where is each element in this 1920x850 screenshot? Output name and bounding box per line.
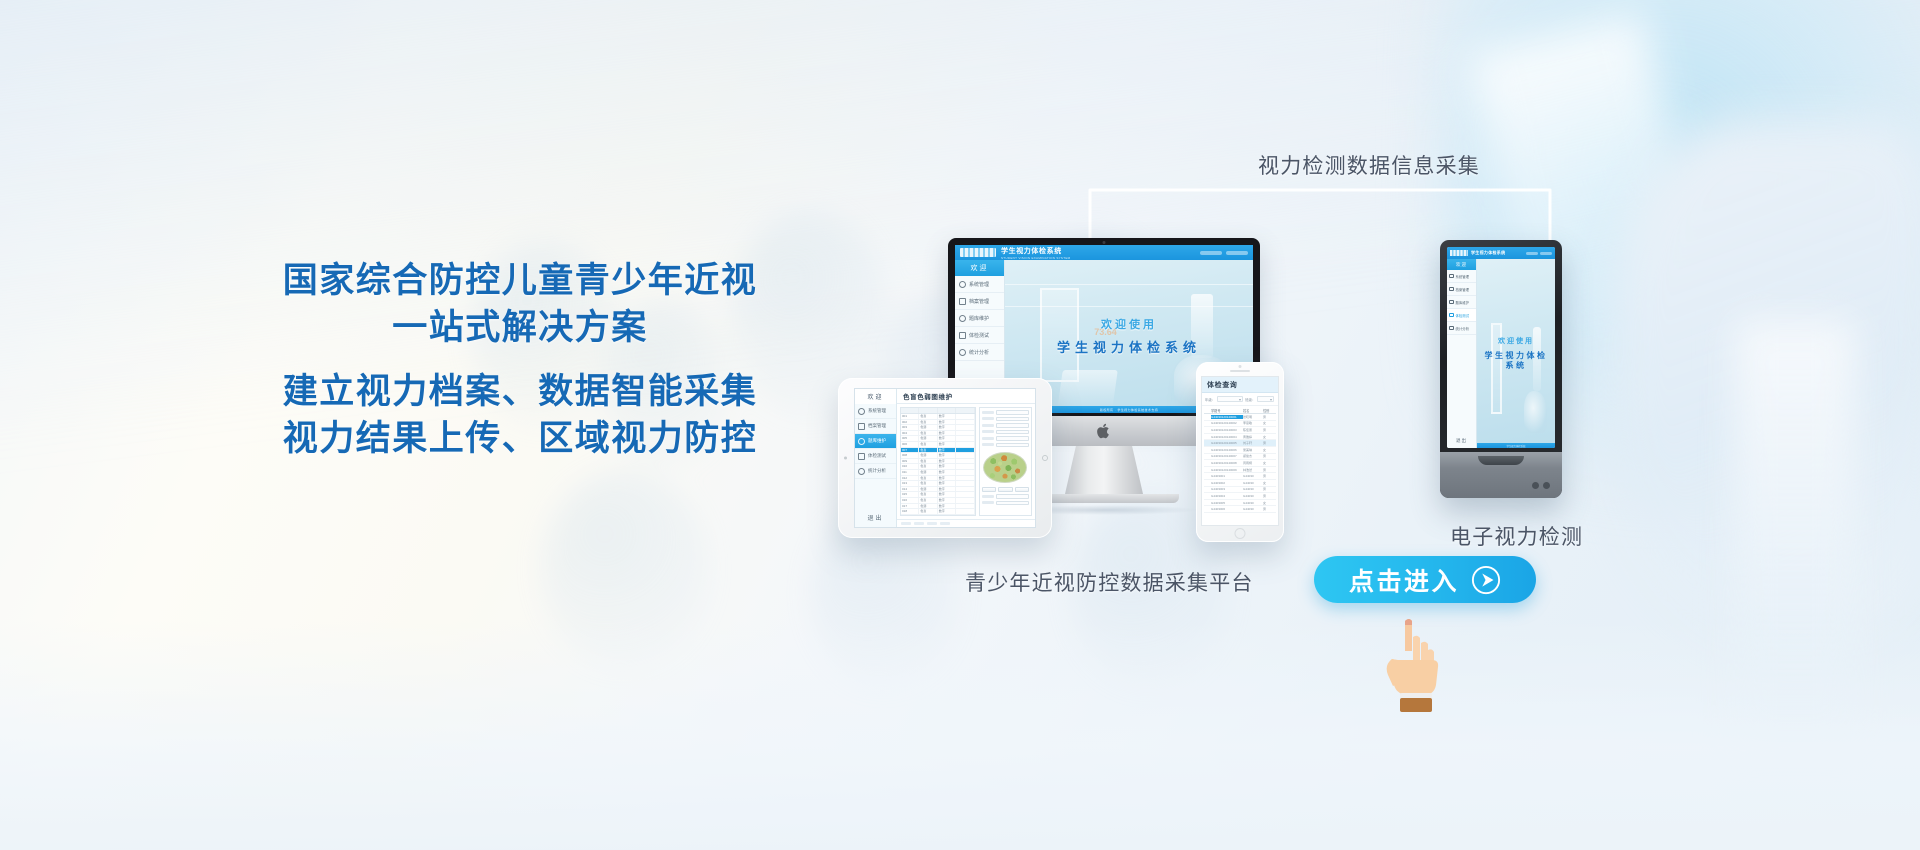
app-header-actions [1200,251,1248,255]
list-cell: 吴美琳 [1243,448,1263,452]
table-cell [956,425,974,430]
ishihara-color-plate-icon [983,452,1027,483]
phone-filter-bar: 年级： 班级： [1202,393,1278,406]
sensor-icon [1543,482,1550,489]
headline-line-2: 一站式解决方案 [190,305,850,352]
kiosk-screen: 学生视力体检系统 欢迎 系统管理 [1447,247,1555,448]
list-item[interactable]: G44030120140006吴美琳女 [1204,447,1276,454]
monitor-stand [1065,446,1143,494]
user-icon [858,408,865,415]
kiosk-main-content: 欢迎使用 学生视力体检系统 学生视力体检系统 [1477,259,1555,448]
table-cell: 003 [901,425,919,430]
promo-banner: 国家综合防控儿童青少年近视 一站式解决方案 建立视力档案、数据智能采集 视力结果… [0,0,1920,850]
table-cell [956,476,974,481]
list-item[interactable]: G4403001G44030男 [1204,473,1276,480]
list-cell: 郑俊杰 [1243,454,1263,458]
phone-table-body: G44030120140001张晓明男G44030120140002李思敏女G4… [1204,414,1276,513]
headline-line-4: 视力结果上传、区域视力防控 [190,416,850,463]
table-cell: 数字 [938,420,956,425]
field-label [982,437,994,440]
table-cell [956,492,974,497]
field-input[interactable] [996,417,1029,422]
list-cell: 男 [1263,474,1276,478]
tablet-sidebar-header: 欢迎 [855,389,896,404]
sidebar-item-question-bank[interactable]: 题库维护 [955,310,1004,327]
table-cell: 色盲 [919,420,937,425]
table-cell: 色盲 [919,476,937,481]
field-label [982,424,994,427]
headline-line-1: 国家综合防控儿童青少年近视 [190,258,850,305]
kiosk-sensor-icons [1532,482,1550,489]
app-logo-icon [960,248,996,257]
table-cell: 数字 [938,464,956,469]
table-cell: 013 [901,481,919,486]
list-cell: G4403006 [1211,507,1243,511]
phone-table[interactable]: 学籍号 姓名 性别 G44030120140001张晓明男G4403012014… [1202,406,1278,525]
table-cell: 色弱 [919,470,937,475]
grade-filter-label: 年级： [1205,397,1215,402]
save-button[interactable] [982,487,996,492]
detail-field[interactable] [982,410,1029,415]
kiosk-body: 欢迎 系统管理 档案管理 题库维护 [1447,259,1555,448]
table-cell [956,470,974,475]
kiosk-base [1440,452,1562,498]
welcome-line-1: 欢迎使用 [1101,316,1157,332]
list-item[interactable]: G4403003G44030男 [1204,487,1276,494]
list-cell: 女 [1263,448,1276,452]
list-cell: G44030120140004 [1211,435,1243,439]
tablet-screen: 欢迎 系统管理 档案管理 题库维护 [854,388,1036,528]
sidebar-item-exam[interactable]: 体检测试 [955,327,1004,344]
field-input[interactable] [996,436,1029,441]
phone-page-title: 体检查询 [1202,377,1278,393]
table-cell: 数字 [938,504,956,509]
list-item[interactable]: G44030120140003陈佳豪男 [1204,427,1276,434]
table-cell: 006 [901,442,919,447]
table-cell [956,436,974,441]
field-input[interactable] [996,501,1029,506]
tablet-sidebar-label: 档案管理 [868,423,886,429]
phone-mockup: 体检查询 年级： 班级： 学籍号 姓名 性别 G44030120140001张晓… [1196,362,1284,542]
kiosk-welcome-panel: 欢迎使用 学生视力体检系统 [1477,259,1555,448]
field-label [982,430,994,433]
detail-field[interactable] [982,436,1029,441]
footer-button[interactable] [927,522,937,525]
list-cell: G44030 [1243,501,1263,505]
chart-icon [1449,326,1454,331]
list-cell: G44030 [1243,481,1263,485]
detail-field[interactable] [982,423,1029,428]
kiosk-sidebar-header: 欢迎 [1447,259,1476,270]
table-cell: 018 [901,509,919,514]
kiosk-header-actions [1526,252,1552,255]
list-cell: G44030120140006 [1211,448,1243,452]
kiosk-caption: 电子视力检测 [1450,521,1583,551]
tablet-detail-pane [979,407,1032,516]
table-cell: 色盲 [919,464,937,469]
table-cell: 009 [901,459,919,464]
user-icon [959,281,966,288]
list-cell: G44030120140005 [1211,441,1243,445]
table-cell: 数字 [938,414,956,419]
table-col-id [901,408,919,413]
sidebar-label: 体检测试 [969,332,989,339]
table-cell [956,504,974,509]
sidebar-item-statistics[interactable]: 统计分析 [955,344,1004,361]
list-cell: 女 [1263,461,1276,465]
field-label [982,501,994,504]
tablet-data-table[interactable]: 001色盲数字002色盲数字003色弱数字004色盲数字005色弱数字006色盲… [900,407,976,516]
detail-field[interactable] [982,417,1029,422]
flow-label: 视力检测数据信息采集 [1258,150,1480,180]
kiosk-logo-icon [1450,250,1468,256]
kiosk-header-bar: 学生视力体检系统 [1447,247,1555,259]
kiosk-welcome-line-1: 欢迎使用 [1498,336,1534,346]
sidebar-item-archive[interactable]: 档案管理 [955,293,1004,310]
table-cell: 数字 [938,436,956,441]
table-cell: 色盲 [919,448,937,453]
list-cell: G4403002 [1211,481,1243,485]
kiosk-sidebar-label: 体检测试 [1456,313,1470,318]
class-filter-label: 班级： [1245,397,1255,402]
list-cell: 男 [1263,494,1276,498]
list-cell: G44030 [1243,474,1263,478]
table-cell: 数字 [938,509,956,514]
gear-icon [858,438,865,445]
background-bottom-haze [0,620,1920,850]
table-cell: 数字 [938,487,956,492]
list-cell: 女 [1263,435,1276,439]
list-item[interactable]: G44030120140004黄雅婷女 [1204,434,1276,441]
table-cell: 008 [901,453,919,458]
list-item[interactable]: G44030120140005刘子轩男 [1204,440,1276,447]
kiosk-logout-chip[interactable] [1540,252,1552,255]
field-label [982,495,994,498]
table-cell [956,448,974,453]
field-label [982,443,994,446]
table-col-type [919,408,937,413]
phone-home-button[interactable] [1235,528,1246,539]
list-cell: 周雨桐 [1243,461,1263,465]
sidebar-item-system[interactable]: 系统管理 [955,276,1004,293]
app-title: 学生视力体检系统 [1001,246,1070,256]
welcome-line-2: 学生视力体检系统 [1051,339,1207,357]
table-cell: 数字 [938,431,956,436]
list-cell: G44030120140008 [1211,461,1243,465]
table-cell: 色盲 [919,481,937,486]
tablet-sidebar-label: 体检测试 [868,453,886,459]
table-cell: 数字 [938,459,956,464]
detail-field[interactable] [982,443,1029,448]
class-filter-select[interactable] [1257,396,1274,402]
table-cell: 数字 [938,448,956,453]
table-col-answer [938,408,956,413]
table-cell: 色弱 [919,487,937,492]
phone-speaker-icon [1230,370,1250,372]
list-cell: 林浩然 [1243,468,1263,472]
field-input[interactable] [996,410,1029,415]
tablet-home-button[interactable] [1042,455,1048,461]
table-cell: 数字 [938,481,956,486]
tablet-page-title: 色盲色弱图维护 [897,389,1035,404]
platform-caption: 青少年近视防控数据采集平台 [965,567,1254,597]
table-cell [956,464,974,469]
sidebar-label: 系统管理 [969,281,989,288]
tablet-sidebar-item-question-bank[interactable]: 题库维护 [855,434,896,449]
list-cell: G4403001 [1211,474,1243,478]
list-item[interactable]: G4403004G44030男 [1204,493,1276,500]
list-item[interactable]: G4403002G44030女 [1204,480,1276,487]
list-cell: G44030120140007 [1211,454,1243,458]
field-label [982,411,994,414]
table-cell [956,431,974,436]
kiosk-sidebar-item-statistics[interactable]: 统计分析 [1447,322,1476,335]
edit-button[interactable] [998,487,1012,492]
table-cell [956,487,974,492]
tablet-sidebar: 欢迎 系统管理 档案管理 题库维护 [855,389,897,527]
table-cell: 010 [901,464,919,469]
table-cell: 005 [901,436,919,441]
delete-button[interactable] [1015,487,1029,492]
folder-icon [1449,287,1454,292]
table-cell [956,481,974,486]
list-item[interactable]: G4403005G44030女 [1204,500,1276,507]
kiosk-sidebar-item-system[interactable]: 系统管理 [1447,270,1476,283]
kiosk-sidebar-label: 档案管理 [1456,287,1470,292]
app-subtitle: STUDENT VISION EXAMINATION SYSTEM [1001,256,1070,260]
list-cell: 黄雅婷 [1243,435,1263,439]
list-cell: G44030120140009 [1211,468,1243,472]
kiosk-sidebar-label: 系统管理 [1456,274,1470,279]
clipboard-icon [959,332,966,339]
phone-screen: 体检查询 年级： 班级： 学籍号 姓名 性别 G44030120140001张晓… [1201,376,1279,526]
table-cell: 色盲 [919,492,937,497]
table-cell: 色盲 [919,431,937,436]
enter-button[interactable]: 点击进入 [1314,556,1536,603]
table-cell: 012 [901,476,919,481]
table-cell: 002 [901,420,919,425]
table-cell: 色弱 [919,504,937,509]
clipboard-icon [858,453,865,460]
field-input[interactable] [996,423,1029,428]
field-input[interactable] [996,494,1029,499]
list-cell: 李思敏 [1243,421,1263,425]
kiosk-sidebar-item-archive[interactable]: 档案管理 [1447,283,1476,296]
pointing-hand-icon [1378,615,1448,715]
list-item[interactable]: G44030120140009林浩然男 [1204,467,1276,474]
table-cell: 数字 [938,453,956,458]
list-cell: 男 [1263,428,1276,432]
kiosk-user-chip[interactable] [1526,252,1538,255]
table-cell: 色弱 [919,453,937,458]
sidebar-label: 题库维护 [969,315,989,322]
table-cell: 015 [901,492,919,497]
list-cell: G44030 [1243,507,1263,511]
list-cell: G44030120140003 [1211,428,1243,432]
table-cell: 017 [901,504,919,509]
detail-field[interactable] [982,501,1029,506]
table-cell: 色盲 [919,498,937,503]
table-cell: 011 [901,470,919,475]
phone-camera-icon [1239,365,1242,368]
tablet-sidebar-label: 系统管理 [868,408,886,414]
table-cell: 004 [901,431,919,436]
table-cell: 色盲 [919,509,937,514]
table-cell: 色弱 [919,425,937,430]
list-cell: 女 [1263,501,1276,505]
sensor-icon [1532,482,1539,489]
table-cell [956,442,974,447]
app-header-bar: 学生视力体检系统 STUDENT VISION EXAMINATION SYST… [955,245,1253,260]
chart-icon [959,349,966,356]
field-label [982,417,994,420]
list-cell: G44030120140001 [1211,415,1243,419]
table-cell: 数字 [938,476,956,481]
list-cell: 女 [1263,421,1276,425]
detail-field[interactable] [982,430,1029,435]
table-col-note [956,408,974,413]
list-cell: 男 [1263,454,1276,458]
clipboard-icon [1449,313,1454,318]
table-cell: 016 [901,498,919,503]
table-cell: 色弱 [919,436,937,441]
tablet-main: 色盲色弱图维护 001色盲数字002色盲数字003色弱数字004色盲数字005色… [897,389,1035,527]
list-cell: 男 [1263,507,1276,511]
footer-button[interactable] [901,522,911,525]
tablet-sidebar-item-system[interactable]: 系统管理 [855,404,896,419]
sidebar-header: 欢迎 [955,260,1004,276]
table-cell: 色盲 [919,414,937,419]
sidebar-label: 档案管理 [969,298,989,305]
headline-line-3: 建立视力档案、数据智能采集 [190,369,850,416]
list-cell: G4403003 [1211,487,1243,491]
webcam-icon [1103,241,1106,244]
field-input[interactable] [996,430,1029,435]
circled-play-arrow-icon [1471,565,1501,595]
footer-button[interactable] [940,522,950,525]
list-cell: G44030120140002 [1211,421,1243,425]
sidebar-label: 统计分析 [969,349,989,356]
kiosk-sidebar-label: 题库维护 [1456,300,1470,305]
table-cell: 007 [901,448,919,453]
table-body: 001色盲数字002色盲数字003色弱数字004色盲数字005色弱数字006色盲… [901,414,975,515]
table-cell [956,420,974,425]
field-input[interactable] [996,443,1029,448]
kiosk-sidebar-item-question-bank[interactable]: 题库维护 [1447,296,1476,309]
table-cell [956,453,974,458]
kiosk-chin-slot [1478,456,1524,465]
list-cell: G4403005 [1211,501,1243,505]
list-cell: 男 [1263,487,1276,491]
detail-field[interactable] [982,494,1029,499]
list-cell: 男 [1263,468,1276,472]
table-cell: 数字 [938,498,956,503]
kiosk-sidebar-item-exam[interactable]: 体检测试 [1447,309,1476,322]
tablet-sidebar-label: 题库维护 [868,438,886,444]
gear-icon [1449,300,1454,305]
table-cell [956,459,974,464]
tablet-footer-toolbar [897,519,1035,527]
table-cell: 数字 [938,442,956,447]
tablet-sidebar-item-statistics[interactable]: 统计分析 [855,464,896,479]
list-cell: 女 [1263,481,1276,485]
kiosk-welcome-line-2: 学生视力体检系统 [1477,351,1555,372]
table-cell [956,414,974,419]
list-item[interactable]: G44030120140002李思敏女 [1204,421,1276,428]
enter-button-label: 点击进入 [1349,562,1459,598]
list-item[interactable]: G4403006G44030男 [1204,506,1276,513]
tablet-sidebar-item-archive[interactable]: 档案管理 [855,419,896,434]
table-cell: 001 [901,414,919,419]
list-cell: 男 [1263,415,1276,419]
folder-icon [858,423,865,430]
hero-headline: 国家综合防控儿童青少年近视 一站式解决方案 建立视力档案、数据智能采集 视力结果… [190,258,850,462]
kiosk-app: 学生视力体检系统 欢迎 系统管理 [1447,247,1555,448]
grade-filter-select[interactable] [1217,396,1243,402]
user-icon [1449,274,1454,279]
table-cell: 014 [901,487,919,492]
phone-col-check [1204,408,1211,413]
kiosk-sidebar-exit-button[interactable]: 退出 [1447,434,1476,448]
tablet-columns: 001色盲数字002色盲数字003色弱数字004色盲数字005色弱数字006色盲… [897,404,1035,519]
list-cell: G44030 [1243,487,1263,491]
tablet-mockup: 欢迎 系统管理 档案管理 题库维护 [838,378,1052,538]
logout-chip[interactable] [1226,251,1248,255]
footer-button[interactable] [914,522,924,525]
tablet-camera-icon [844,457,847,460]
pointing-hand-cursor [1378,615,1448,715]
table-cell [956,509,974,514]
chart-icon [858,468,865,475]
folder-icon [959,298,966,305]
tablet-app-body: 欢迎 系统管理 档案管理 题库维护 [855,389,1035,527]
phone-col-gender: 性别 [1263,408,1276,413]
kiosk-footer: 学生视力体检系统 [1477,443,1555,448]
list-cell: G4403004 [1211,494,1243,498]
kiosk-sidebar: 欢迎 系统管理 档案管理 题库维护 [1447,259,1477,448]
list-cell: 刘子轩 [1243,441,1263,445]
list-item[interactable]: G44030120140001张晓明男 [1204,414,1276,421]
tablet-sidebar-label: 统计分析 [868,468,886,474]
list-cell: 张晓明 [1243,415,1263,419]
kiosk-mockup: 学生视力体检系统 欢迎 系统管理 [1440,240,1562,498]
list-cell: 男 [1263,441,1276,445]
detail-button-row [982,487,1029,492]
table-cell: 数字 [938,425,956,430]
table-cell: 数字 [938,492,956,497]
table-cell [956,498,974,503]
list-item[interactable]: G44030120140008周雨桐女 [1204,460,1276,467]
kiosk-app-title: 学生视力体检系统 [1471,250,1505,256]
gear-icon [959,315,966,322]
list-item[interactable]: G44030120140007郑俊杰男 [1204,454,1276,461]
list-cell: 陈佳豪 [1243,428,1263,432]
phone-col-name: 姓名 [1243,408,1263,413]
tablet-sidebar-item-exam[interactable]: 体检测试 [855,449,896,464]
apple-logo-icon [1097,423,1111,439]
phone-col-id: 学籍号 [1211,408,1243,413]
table-cell: 色盲 [919,442,937,447]
tablet-app: 欢迎 系统管理 档案管理 题库维护 [855,389,1035,527]
table-cell: 数字 [938,470,956,475]
list-cell: G44030 [1243,494,1263,498]
tablet-sidebar-exit-button[interactable]: 退出 [855,507,896,527]
kiosk-sidebar-label: 统计分析 [1456,326,1470,331]
table-cell: 色盲 [919,459,937,464]
user-chip[interactable] [1200,251,1222,255]
